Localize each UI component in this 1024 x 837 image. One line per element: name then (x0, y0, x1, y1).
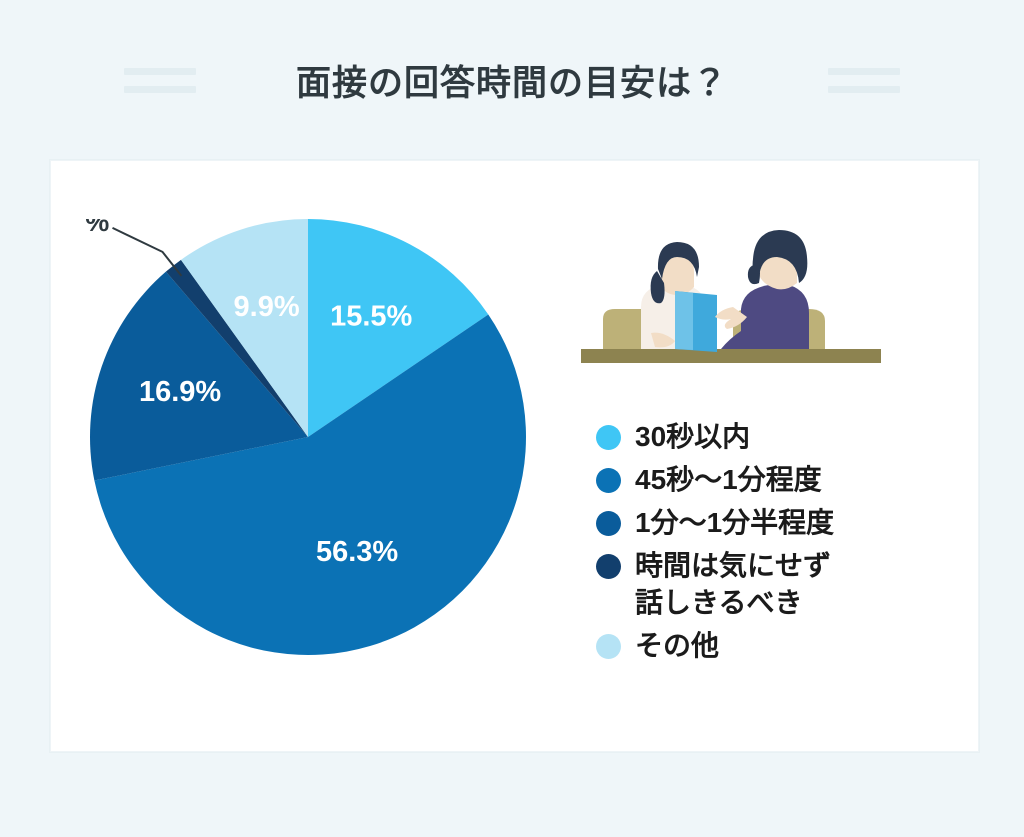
man-hair-side-shape (748, 265, 760, 284)
ornament-bar (124, 86, 196, 93)
legend-color-swatch-icon (596, 511, 621, 536)
legend-color-swatch-icon (596, 634, 621, 659)
page-header: 面接の回答時間の目安は？ (0, 0, 1024, 160)
legend-item[interactable]: 30秒以内 (596, 419, 946, 456)
legend-item-label: 1分〜1分半程度 (635, 505, 834, 542)
legend-item[interactable]: その他 (596, 628, 946, 665)
page-title: 面接の回答時間の目安は？ (296, 55, 728, 106)
illustration-svg (581, 221, 881, 376)
legend-item-label: その他 (635, 628, 719, 665)
legend-item-label: 時間は気にせず 話しきるべき (635, 548, 831, 622)
legend-color-swatch-icon (596, 554, 621, 579)
legend-item-label: 45秒〜1分程度 (635, 462, 822, 499)
pie-slice-label: 9.9% (234, 291, 300, 323)
pie-chart: 15.5%56.3%16.9%1.4%9.9% (86, 219, 546, 679)
legend-item[interactable]: 45秒〜1分程度 (596, 462, 946, 499)
legend-item[interactable]: 1分〜1分半程度 (596, 505, 946, 542)
ornament-bar (828, 86, 900, 93)
folder-inner-shape (675, 291, 693, 350)
chart-card: 15.5%56.3%16.9%1.4%9.9% (50, 160, 979, 752)
pie-slice-label: 15.5% (330, 300, 412, 332)
pie-slice-label: 16.9% (139, 376, 221, 408)
title-ornament-right (828, 68, 900, 93)
pie-slice-group (90, 219, 526, 655)
title-ornament-left (124, 68, 196, 93)
legend-color-swatch-icon (596, 468, 621, 493)
interview-two-people-illustration (581, 221, 881, 376)
legend-color-swatch-icon (596, 425, 621, 450)
pie-slice-label: 56.3% (316, 536, 398, 568)
pie-slice-label: 1.4% (86, 219, 109, 237)
pie-chart-svg: 15.5%56.3%16.9%1.4%9.9% (86, 219, 546, 679)
legend-item-label: 30秒以内 (635, 419, 750, 456)
ornament-bar (828, 68, 900, 75)
floor-shape (581, 349, 881, 363)
chart-legend: 30秒以内45秒〜1分程度1分〜1分半程度時間は気にせず 話しきるべきその他 (596, 419, 946, 671)
ornament-bar (124, 68, 196, 75)
man-sweater-shape (741, 285, 809, 349)
legend-item[interactable]: 時間は気にせず 話しきるべき (596, 548, 946, 622)
